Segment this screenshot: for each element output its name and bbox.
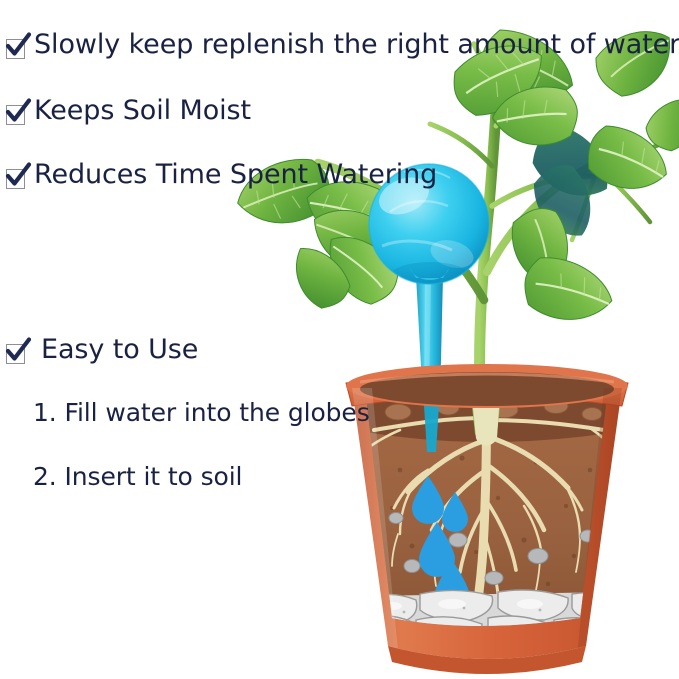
- step-item-1: 1. Fill water into the globes: [33, 399, 370, 427]
- benefit-item-3[interactable]: Reduces Time Spent Watering: [4, 160, 437, 191]
- benefit-item-4[interactable]: Easy to Use: [4, 335, 198, 366]
- checkbox-checked-icon[interactable]: [4, 341, 29, 366]
- terracotta-pot: [346, 364, 628, 674]
- checkbox-checked-icon[interactable]: [4, 166, 29, 191]
- promo-graphic-page: Slowly keep replenish the right amount o…: [0, 0, 679, 679]
- benefit-label: Easy to Use: [41, 335, 198, 365]
- benefit-label: Reduces Time Spent Watering: [34, 160, 437, 190]
- checkbox-checked-icon[interactable]: [4, 102, 29, 127]
- benefit-label: Slowly keep replenish the right amount o…: [34, 30, 679, 60]
- benefit-item-1[interactable]: Slowly keep replenish the right amount o…: [4, 30, 679, 61]
- benefit-item-2[interactable]: Keeps Soil Moist: [4, 96, 251, 127]
- benefit-label: Keeps Soil Moist: [34, 96, 251, 126]
- step-item-2: 2. Insert it to soil: [33, 463, 242, 491]
- checkbox-checked-icon[interactable]: [4, 36, 29, 61]
